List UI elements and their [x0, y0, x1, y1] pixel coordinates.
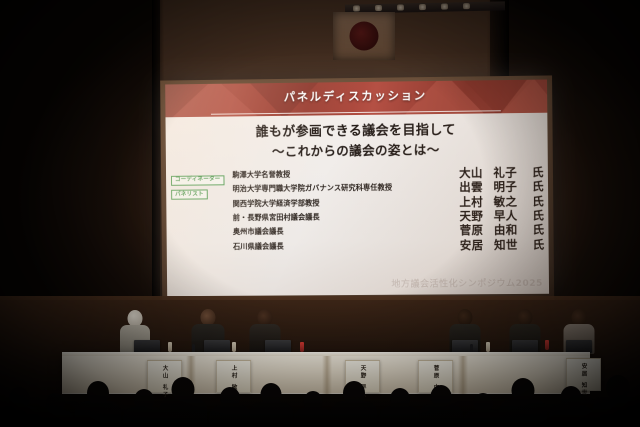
rig-lamp — [375, 5, 382, 11]
audience-shadow-gradient — [0, 393, 640, 427]
roster-affiliation: 関西学院大学経済学部教授 — [233, 197, 460, 209]
japanese-flag — [333, 12, 395, 60]
water-bottle — [232, 342, 236, 352]
projection-screen-frame: パネルディスカッション 誰もが参画できる議会を目指して 〜これからの議会の姿とは… — [160, 75, 554, 305]
role-tag-panelist: パネリスト — [171, 190, 208, 200]
roster-name: 安居 知世 氏 — [460, 236, 545, 253]
rig-lamp — [353, 5, 360, 11]
roster-surname: 安居 — [460, 237, 490, 253]
slide-body: 誰もが参画できる議会を目指して 〜これからの議会の姿とは〜 コーディネーター 駒… — [165, 113, 549, 297]
roster-row: 石川県議会議長 安居 知世 氏 — [172, 237, 545, 254]
roster-affiliation: 駒澤大学名誉教授 — [232, 168, 459, 180]
roster-affiliation: 石川県議会議長 — [233, 240, 460, 252]
rig-lamp — [441, 4, 448, 10]
water-bottle — [486, 342, 490, 352]
roster-given-name: 知世 — [494, 236, 524, 252]
slide-watermark: 地方議会活性化シンポジウム2025 — [391, 276, 543, 290]
slide-band-title: パネルディスカッション — [165, 80, 547, 112]
rig-lamp — [463, 3, 470, 9]
roster-honorific: 氏 — [528, 236, 544, 252]
roster-tag-cell — [171, 204, 232, 205]
roster-tag-cell: パネリスト — [171, 180, 233, 200]
panelist-roster: コーディネーター 駒澤大学名誉教授 大山 礼子 氏 パネリスト — [171, 165, 545, 254]
roster-tag-cell — [171, 218, 232, 219]
drink-can — [545, 340, 549, 350]
flag-red-disc — [350, 22, 379, 51]
roster-affiliation: 前・長野県宮田村議会議長 — [233, 211, 460, 223]
roster-affiliation: 奥州市議会議長 — [233, 225, 460, 237]
drink-can — [300, 342, 304, 352]
slide-title-line2: 〜これからの議会の姿とは〜 — [166, 139, 548, 162]
projection-screen: パネルディスカッション 誰もが参画できる議会を目指して 〜これからの議会の姿とは… — [165, 80, 549, 297]
roster-affiliation: 明治大学専門職大学院ガバナンス研究科専任教授 — [232, 182, 459, 194]
slide-header-band: パネルディスカッション — [165, 80, 547, 118]
roster-tag-cell — [172, 232, 233, 233]
rig-lamp — [419, 4, 426, 10]
auditorium-photo: パネルディスカッション 誰もが参画できる議会を目指して 〜これからの議会の姿とは… — [0, 0, 640, 427]
water-bottle — [168, 342, 172, 352]
rig-lamp — [397, 4, 404, 10]
audience — [0, 352, 640, 427]
slide-main-title: 誰もが参画できる議会を目指して 〜これからの議会の姿とは〜 — [166, 120, 548, 163]
